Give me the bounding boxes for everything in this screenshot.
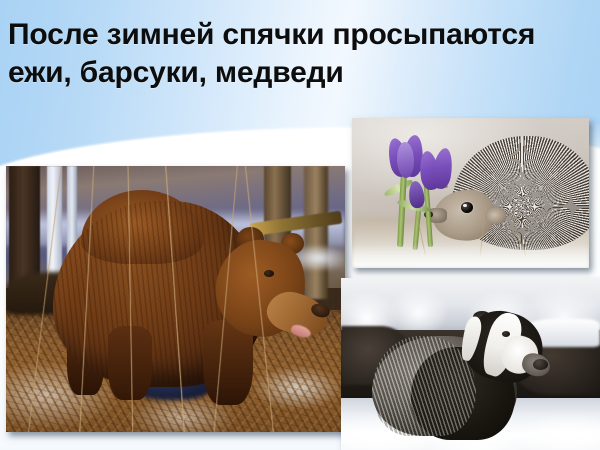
hedgehog-scene [352, 118, 589, 268]
crocus-flower-petal-3 [396, 142, 414, 179]
badger-photo [341, 278, 600, 450]
badger-eye [502, 331, 510, 337]
badger-fur-texture [372, 336, 476, 436]
badger-nose [533, 359, 549, 370]
hedgehog-photo [352, 118, 589, 268]
bear-scene [6, 166, 345, 432]
page-title: После зимней спячки просыпаются ежи, бар… [8, 16, 598, 92]
badger-scene [341, 278, 600, 450]
slide: После зимней спячки просыпаются ежи, бар… [0, 0, 600, 450]
hedgehog-foreground-snow [352, 244, 589, 268]
brown-bear-photo [6, 166, 345, 432]
bear-dry-grass-stalks [6, 166, 345, 432]
